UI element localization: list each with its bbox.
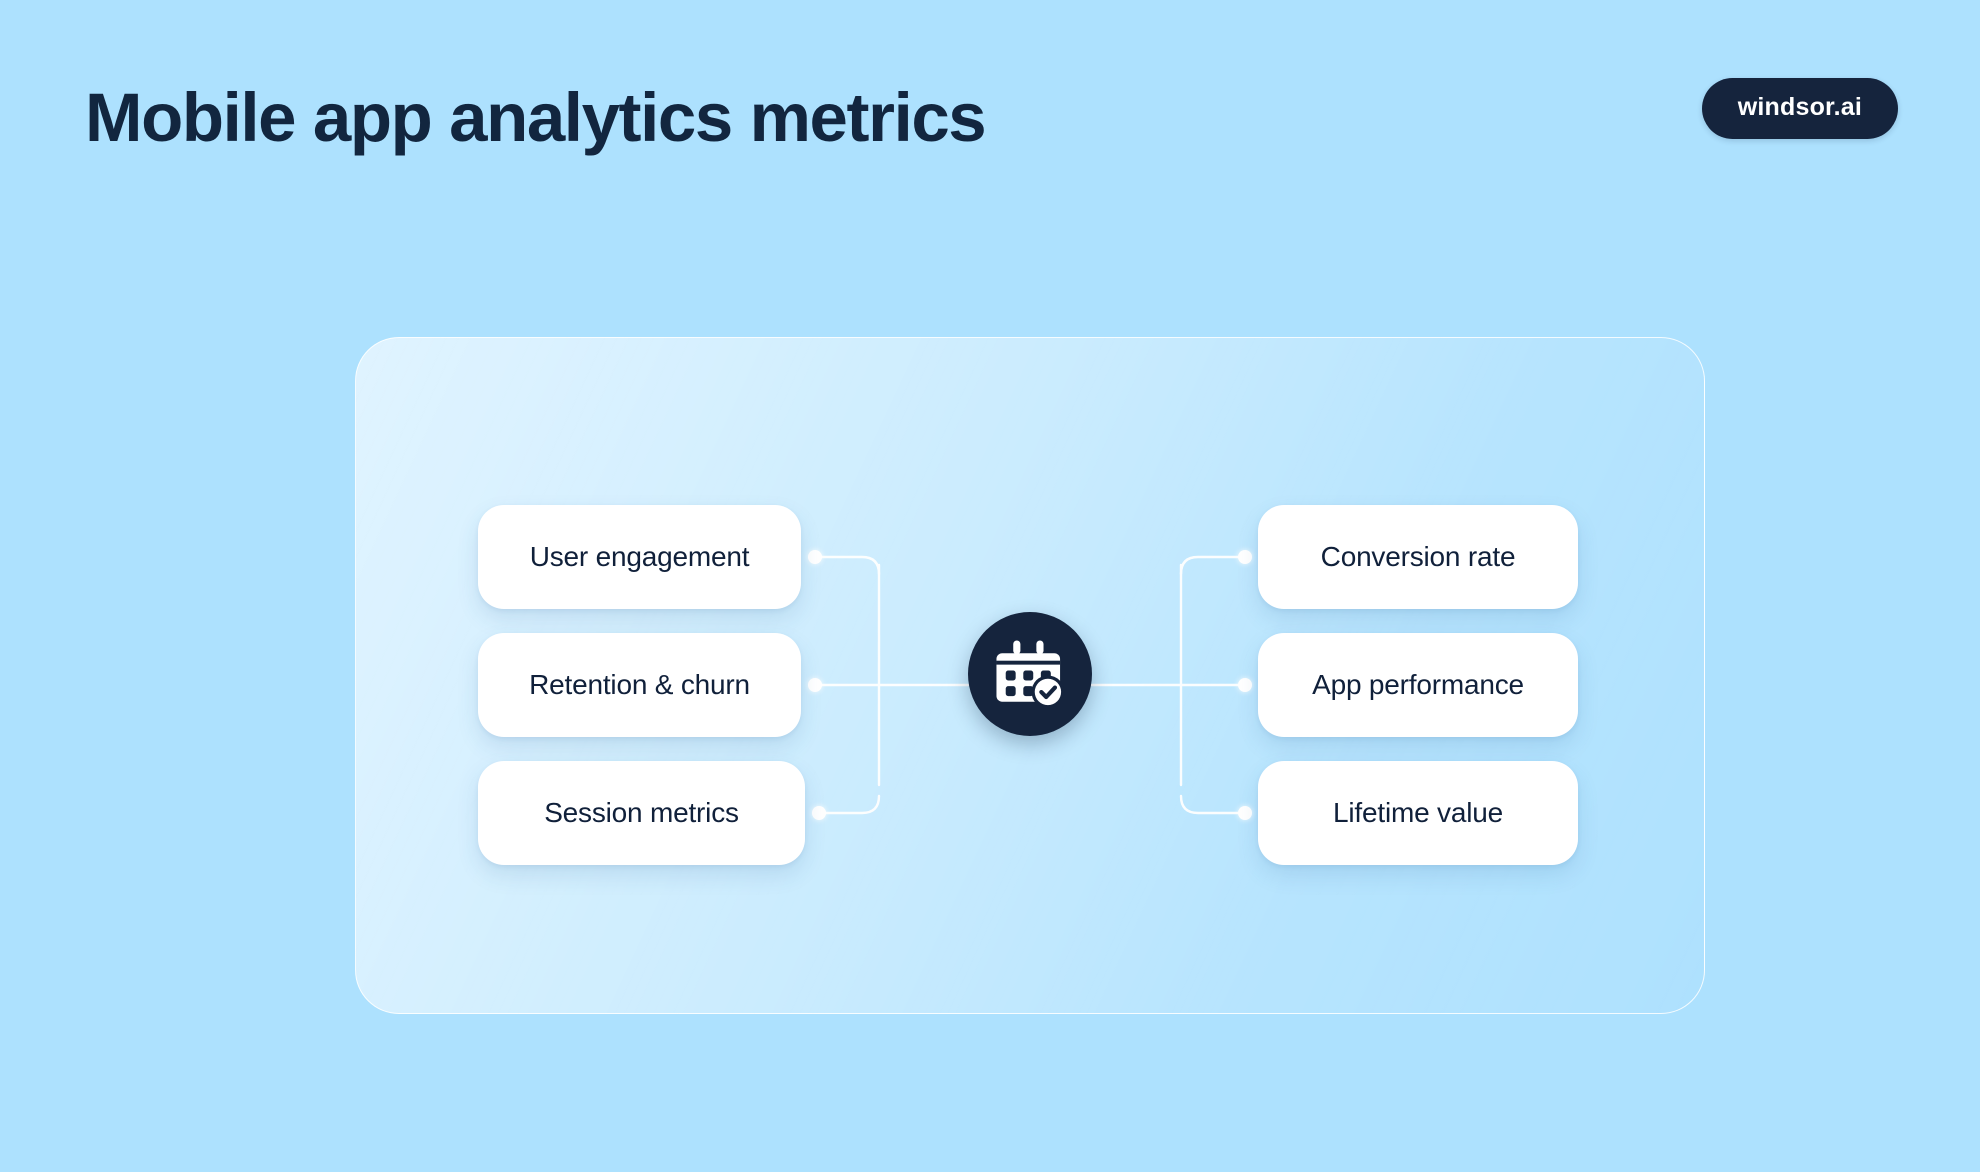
connector-dot-right-2	[1238, 678, 1252, 692]
metric-card-lifetime-value[interactable]: Lifetime value	[1258, 761, 1578, 865]
metric-card-label: Retention & churn	[529, 669, 750, 701]
connector-dot-right-1	[1238, 550, 1252, 564]
metric-card-label: App performance	[1312, 669, 1524, 701]
calendar-check-icon	[993, 637, 1067, 711]
connector-dot-right-3	[1238, 806, 1252, 820]
metric-card-label: Lifetime value	[1333, 797, 1503, 829]
metric-card-user-engagement[interactable]: User engagement	[478, 505, 801, 609]
connector-dot-left-3	[812, 806, 826, 820]
brand-logo: windsor.ai	[1702, 78, 1898, 139]
page-title: Mobile app analytics metrics	[85, 80, 985, 156]
metric-card-app-performance[interactable]: App performance	[1258, 633, 1578, 737]
metric-card-label: Session metrics	[544, 797, 739, 829]
connector-dot-left-1	[808, 550, 822, 564]
metric-card-session-metrics[interactable]: Session metrics	[478, 761, 805, 865]
metric-card-label: User engagement	[530, 541, 750, 573]
metric-card-conversion-rate[interactable]: Conversion rate	[1258, 505, 1578, 609]
metric-card-label: Conversion rate	[1321, 541, 1516, 573]
hub-circle	[968, 612, 1092, 736]
metric-card-retention-churn[interactable]: Retention & churn	[478, 633, 801, 737]
connector-dot-left-2	[808, 678, 822, 692]
